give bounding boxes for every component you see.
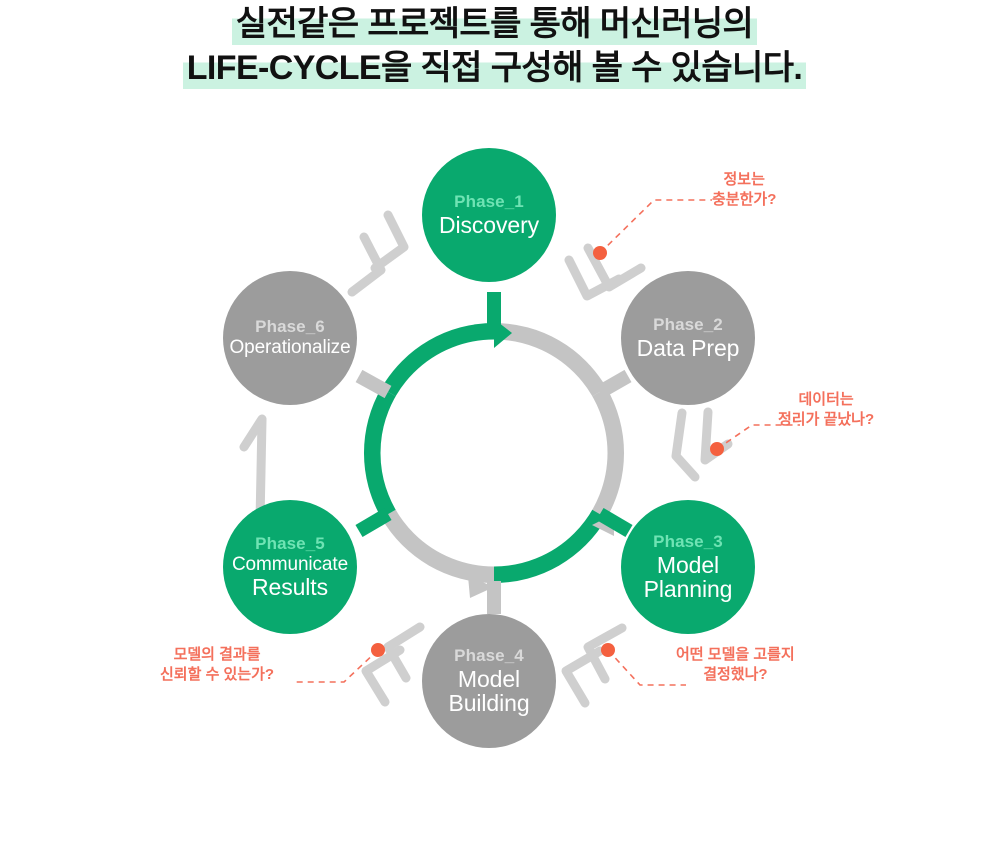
callout-2: 데이터는 정리가 끝났나? — [778, 390, 874, 430]
arrow-phase4-to-phase5 — [366, 627, 420, 702]
spoke-phase5 — [359, 514, 388, 531]
phase-3-name-line-1: Model — [644, 553, 733, 577]
callout-3-line-1: 어떤 모델을 고를지 — [676, 645, 795, 665]
lifecycle-diagram: Phase_1 Discovery Phase_2 Data Prep Phas… — [0, 120, 989, 820]
title-line-2-text: LIFE-CYCLE을 직접 구성해 볼 수 있습니다. — [183, 49, 806, 89]
phase-node-4[interactable]: Phase_4 Model Building — [422, 614, 556, 748]
phase-node-6[interactable]: Phase_6 Operationalize — [223, 271, 357, 405]
phase-5-name: Communicate Results — [232, 555, 348, 600]
leader-callout-1 — [600, 200, 712, 253]
phase-1-name: Discovery — [439, 213, 539, 237]
phase-1-tag: Phase_1 — [454, 193, 524, 211]
phase-2-name-line-1: Data Prep — [637, 336, 740, 360]
phase-node-1[interactable]: Phase_1 Discovery — [422, 148, 556, 282]
spoke-phase6 — [359, 376, 388, 392]
callout-3: 어떤 모델을 고를지 결정했나? — [676, 645, 795, 685]
phase-4-tag: Phase_4 — [454, 647, 524, 665]
phase-3-tag: Phase_3 — [653, 533, 723, 551]
phase-5-name-line-1: Communicate — [232, 555, 348, 575]
title-line-1: 실전같은 프로젝트를 통해 머신러닝의 — [0, 2, 989, 46]
callout-2-line-2: 정리가 끝났나? — [778, 410, 874, 430]
callout-4: 모델의 결과를 신뢰할 수 있는가? — [160, 645, 274, 685]
phase-4-name: Model Building — [448, 667, 529, 716]
arrow-phase6-to-phase1 — [352, 215, 404, 292]
phase-node-2[interactable]: Phase_2 Data Prep — [621, 271, 755, 405]
phase-2-name: Data Prep — [637, 336, 740, 360]
callout-dot-1 — [593, 246, 607, 260]
callout-4-line-1: 모델의 결과를 — [160, 645, 274, 665]
arrow-phase3-to-phase4 — [566, 628, 622, 703]
spoke-phase2 — [600, 376, 628, 392]
callout-1: 정보는 충분한가? — [712, 170, 776, 210]
phase-4-name-line-1: Model — [448, 667, 529, 691]
callout-1-line-2: 충분한가? — [712, 190, 776, 210]
callout-2-line-1: 데이터는 — [778, 390, 874, 410]
title-line-2: LIFE-CYCLE을 직접 구성해 볼 수 있습니다. — [0, 46, 989, 90]
callout-dot-2 — [710, 442, 724, 456]
page-title: 실전같은 프로젝트를 통해 머신러닝의 LIFE-CYCLE을 직접 구성해 볼… — [0, 0, 989, 90]
phase-6-name: Operationalize — [229, 338, 350, 358]
phase-node-5[interactable]: Phase_5 Communicate Results — [223, 500, 357, 634]
callout-1-line-1: 정보는 — [712, 170, 776, 190]
phase-5-tag: Phase_5 — [255, 535, 325, 553]
phase-4-name-line-2: Building — [448, 691, 529, 715]
cycle-ring — [372, 331, 616, 575]
callout-3-line-2: 결정했나? — [676, 665, 795, 685]
phase-3-name: Model Planning — [644, 553, 733, 602]
phase-node-3[interactable]: Phase_3 Model Planning — [621, 500, 755, 634]
phase-3-name-line-2: Planning — [644, 577, 733, 601]
leader-callout-3 — [608, 650, 686, 685]
phase-5-name-line-2: Results — [232, 575, 348, 599]
phase-2-tag: Phase_2 — [653, 316, 723, 334]
title-line-1-text: 실전같은 프로젝트를 통해 머신러닝의 — [232, 5, 757, 45]
phase-1-name-line-1: Discovery — [439, 213, 539, 237]
phase-6-tag: Phase_6 — [255, 318, 325, 336]
phase-6-name-line-1: Operationalize — [229, 338, 350, 358]
callout-dot-4 — [371, 643, 385, 657]
callout-4-line-2: 신뢰할 수 있는가? — [160, 665, 274, 685]
callout-dot-3 — [601, 643, 615, 657]
page-root: 실전같은 프로젝트를 통해 머신러닝의 LIFE-CYCLE을 직접 구성해 볼… — [0, 0, 989, 859]
